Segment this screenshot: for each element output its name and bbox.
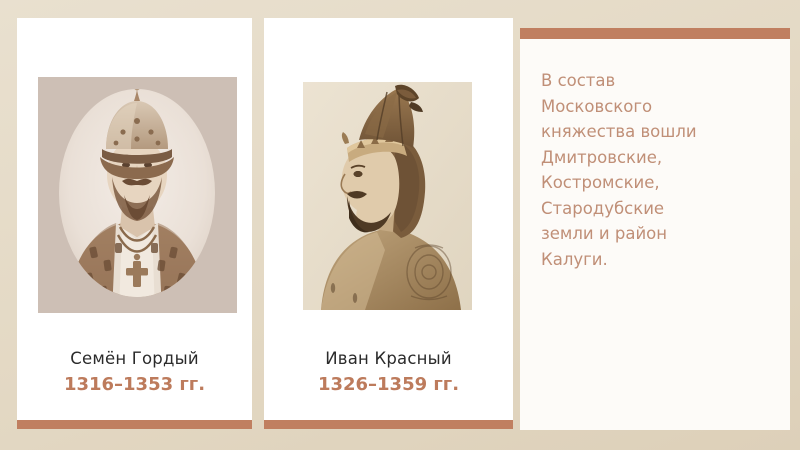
portrait-ivan-illustration <box>303 82 472 310</box>
portrait-ivan-krasny <box>303 82 472 310</box>
person-name: Иван Красный <box>264 348 513 370</box>
slide-canvas: Семён Гордый 1316–1353 гг. <box>0 0 800 450</box>
card-accent-bar-ivan <box>264 420 513 429</box>
card-accent-bar-semyon <box>17 420 252 429</box>
person-card-semyon[interactable]: Семён Гордый 1316–1353 гг. <box>17 18 252 420</box>
portrait-semyon-gordy <box>38 77 237 313</box>
person-dates: 1316–1353 гг. <box>17 373 252 397</box>
person-dates: 1326–1359 гг. <box>264 373 513 397</box>
person-name: Семён Гордый <box>17 348 252 370</box>
caption-ivan: Иван Красный 1326–1359 гг. <box>264 348 513 397</box>
caption-semyon: Семён Гордый 1316–1353 гг. <box>17 348 252 397</box>
portrait-semyon-illustration <box>38 77 237 313</box>
info-panel-text: В состав Московского княжества вошли Дми… <box>541 68 773 272</box>
info-panel-accent-bar <box>520 28 790 39</box>
person-card-ivan[interactable]: Иван Красный 1326–1359 гг. <box>264 18 513 420</box>
